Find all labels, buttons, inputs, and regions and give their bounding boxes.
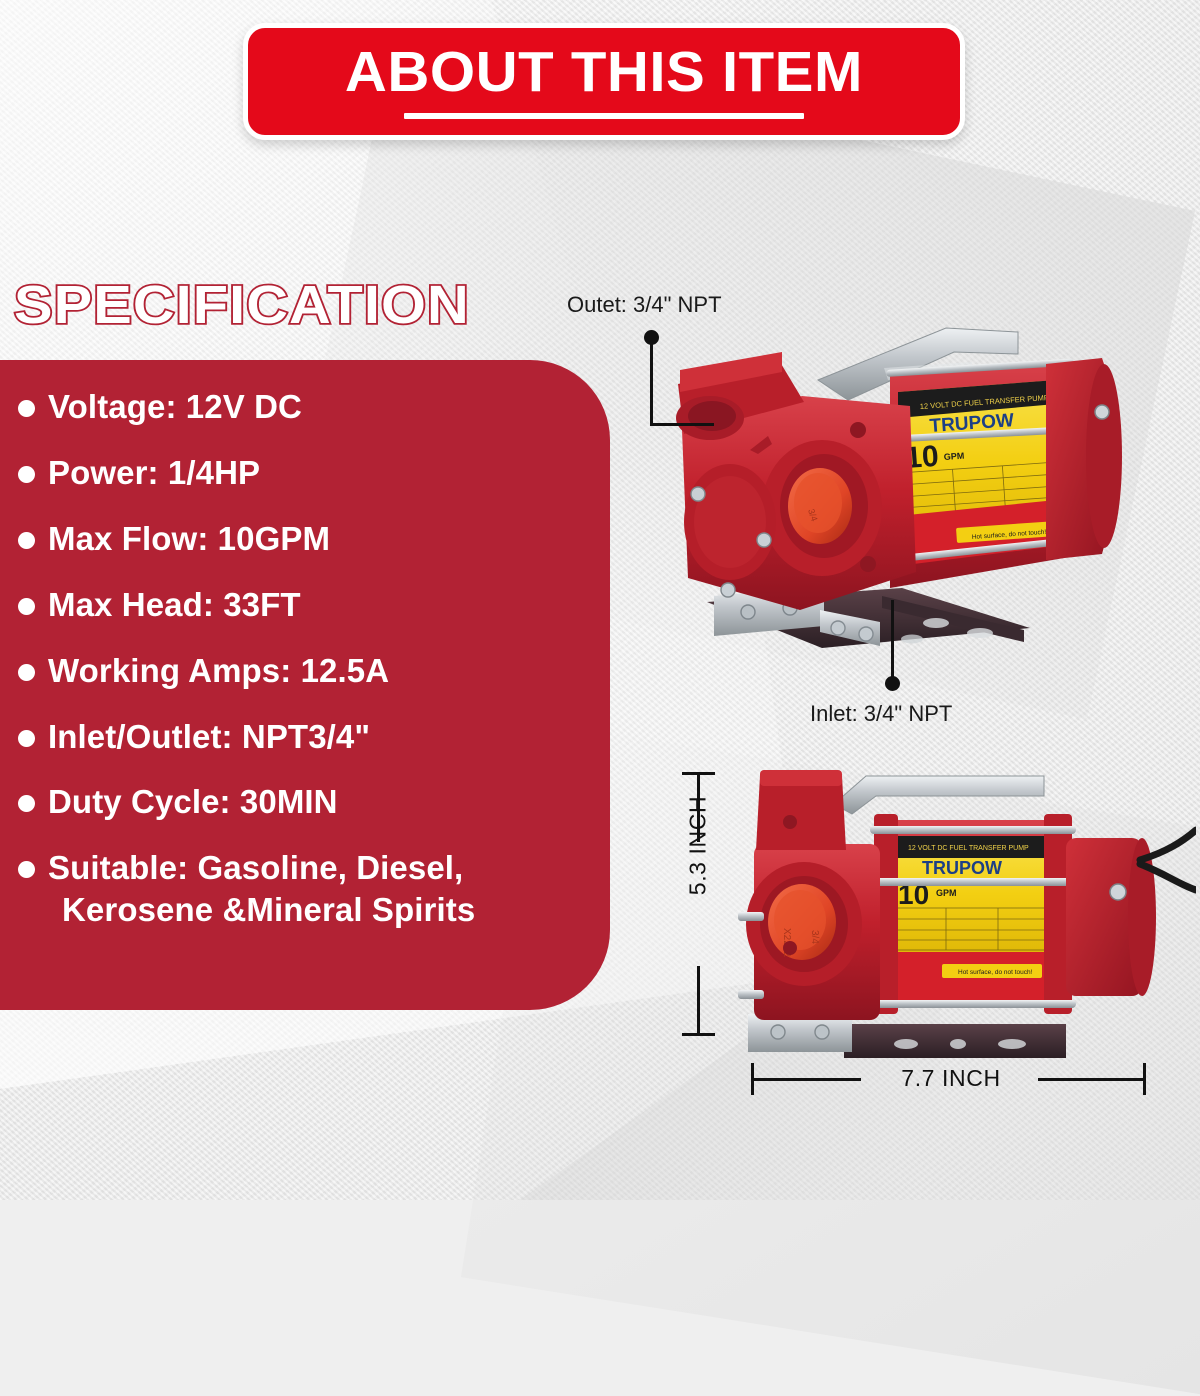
width-dimension-line-right (1038, 1078, 1146, 1081)
svg-text:Hot surface, do not touch!: Hot surface, do not touch! (958, 969, 1033, 976)
inlet-callout-dot (885, 676, 900, 691)
bullet-icon (18, 400, 35, 417)
spec-item-label: Max Head: 33FT (48, 584, 610, 626)
pump-image-angled-view: 12 VOLT DC FUEL TRANSFER PUMP TRUPOW 10 … (672, 310, 1192, 670)
bullet-icon (18, 730, 35, 747)
spec-item-label: Power: 1/4HP (48, 452, 610, 494)
spec-item-line-2: Kerosene &Mineral Spirits (48, 889, 610, 931)
inlet-callout-label: Inlet: 3/4" NPT (810, 701, 952, 727)
specification-heading: SPECIFICATION (14, 274, 470, 336)
spec-item-label: Voltage: 12V DC (48, 386, 610, 428)
bullet-icon (18, 861, 35, 878)
inlet-leader-vertical (891, 600, 894, 680)
svg-text:12 VOLT DC FUEL TRANSFER PUMP: 12 VOLT DC FUEL TRANSFER PUMP (908, 845, 1029, 852)
bullet-icon (18, 532, 35, 549)
about-this-item-banner: ABOUT THIS ITEM (243, 23, 965, 140)
outlet-leader-horizontal (650, 423, 714, 426)
svg-text:TRUPOW: TRUPOW (922, 858, 1002, 878)
svg-text:GPM: GPM (943, 451, 964, 462)
bullet-icon (18, 664, 35, 681)
specification-list: Voltage: 12V DC Power: 1/4HP Max Flow: 1… (0, 386, 610, 931)
outlet-leader-vertical (650, 340, 653, 426)
spec-item-label: Working Amps: 12.5A (48, 650, 610, 692)
svg-text:3/4: 3/4 (809, 930, 820, 944)
pump-head: 3/4 (676, 352, 916, 610)
specification-panel: Voltage: 12V DC Power: 1/4HP Max Flow: 1… (0, 360, 610, 1010)
list-item: Max Head: 33FT (0, 584, 610, 626)
height-dimension-line-lower (697, 966, 700, 1036)
bullet-icon (18, 466, 35, 483)
bullet-icon (18, 795, 35, 812)
list-item: Working Amps: 12.5A (0, 650, 610, 692)
list-item: Power: 1/4HP (0, 452, 610, 494)
svg-text:GPM: GPM (936, 888, 957, 898)
spec-item-label: Inlet/Outlet: NPT3/4" (48, 716, 610, 758)
mounting-bracket (748, 1014, 1066, 1058)
pump-image-side-view: 12 VOLT DC FUEL TRANSFER PUMP TRUPOW 10 … (726, 752, 1196, 1072)
spec-item-label: Max Flow: 10GPM (48, 518, 610, 560)
spec-item-label: Duty Cycle: 30MIN (48, 781, 610, 823)
list-item: Suitable: Gasoline, Diesel, Kerosene &Mi… (0, 847, 610, 931)
bullet-icon (18, 598, 35, 615)
outlet-callout-label: Outet: 3/4" NPT (567, 292, 722, 318)
spec-item-label: Suitable: Gasoline, Diesel, Kerosene &Mi… (48, 847, 610, 931)
outlet-callout-dot (644, 330, 659, 345)
spec-item-line-1: Suitable: Gasoline, Diesel, (48, 849, 463, 886)
banner-title: ABOUT THIS ITEM (345, 44, 863, 101)
list-item: Max Flow: 10GPM (0, 518, 610, 560)
height-dimension-label: 5.3 INCH (685, 761, 712, 931)
width-dimension-line-left (751, 1078, 861, 1081)
motor-end-cap (1046, 358, 1122, 560)
motor-housing: 12 VOLT DC FUEL TRANSFER PUMP TRUPOW 10 … (874, 814, 1072, 1014)
list-item: Duty Cycle: 30MIN (0, 781, 610, 823)
banner-underline (404, 113, 804, 119)
list-item: Voltage: 12V DC (0, 386, 610, 428)
carry-handle (834, 776, 1044, 814)
list-item: Inlet/Outlet: NPT3/4" (0, 716, 610, 758)
